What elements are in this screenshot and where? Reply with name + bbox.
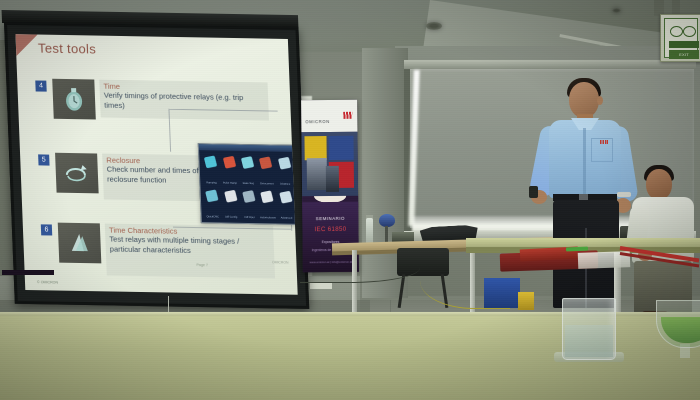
app-icon[interactable]: Advanced <box>277 189 295 221</box>
app-icon-glyph <box>261 190 274 203</box>
emergency-exit-sign: EXIT <box>660 14 700 62</box>
app-icon-label: Diff Config <box>223 215 240 220</box>
green-marker <box>566 247 588 252</box>
power-strip[interactable] <box>310 282 332 289</box>
lamp-stem <box>385 226 388 242</box>
shirt-placket <box>583 128 586 196</box>
slide-item: 4 Time Verify timings of protective rela… <box>35 78 275 82</box>
app-icon-glyph <box>278 157 291 170</box>
sign-mount <box>672 0 680 14</box>
presenter-standing <box>527 78 647 328</box>
app-icon[interactable]: Pulse Ramp <box>221 154 239 186</box>
app-icon-glyph <box>205 189 218 202</box>
omicron-logo-icon <box>600 140 608 144</box>
slide-logo: OMICRON <box>272 260 289 264</box>
characteristics-icon <box>58 223 102 264</box>
app-screenshot: RampingPulse RampState SeqOvercurrentDis… <box>198 143 298 225</box>
app-icon[interactable]: Autoreclosure <box>259 188 277 220</box>
seminar-room-photo: EXIT Test tools 4 <box>0 0 700 400</box>
app-icon-label: Ramping <box>203 180 220 185</box>
ceiling-downlight-icon <box>426 22 442 30</box>
app-icon[interactable]: QuickCMC <box>203 187 221 219</box>
exit-sign-label: EXIT <box>669 50 699 59</box>
slide-item-number: 5 <box>38 154 49 165</box>
screen-frame: Test tools 4 Time Verify timings of p <box>4 22 309 309</box>
app-icon-label: QuickCMC <box>205 214 222 219</box>
wristwatch <box>617 192 631 197</box>
slide-corner-accent <box>15 34 38 56</box>
attendee-head <box>646 169 672 200</box>
slide-item-number: 6 <box>41 224 52 235</box>
banner-header: OMICRON <box>301 100 357 133</box>
omicron-logo-icon <box>343 112 352 119</box>
app-icon-glyph <box>242 190 255 203</box>
app-icon-label: Diff Oper <box>241 215 258 220</box>
slide-page-number: Page 7 <box>196 263 208 267</box>
app-icon[interactable]: Distance <box>276 155 294 187</box>
banner-line-2: IEC 61850 <box>302 226 358 234</box>
exit-arrows-icon <box>670 26 698 37</box>
presenter-remote[interactable] <box>529 186 538 198</box>
blind-headrail <box>404 60 696 69</box>
slide-footer: © OMICRON <box>37 280 58 284</box>
app-icon-glyph <box>259 156 272 169</box>
app-icon-glyph <box>279 191 292 204</box>
app-icon[interactable]: Diff Config <box>222 188 240 220</box>
water-bottle <box>366 218 373 244</box>
presentation-slide: Test tools 4 Time Verify timings of p <box>15 34 297 295</box>
app-icon[interactable]: Ramping <box>202 153 220 185</box>
banner-brand: OMICRON <box>305 119 330 124</box>
app-titlebar <box>199 144 295 152</box>
slide-item-body: Test relays with multiple timing stages … <box>109 235 270 257</box>
water <box>565 325 613 357</box>
presenter-ear <box>597 96 603 105</box>
app-icon[interactable]: Diff Oper <box>240 188 258 220</box>
bowl-contents <box>661 317 700 343</box>
reclosure-cycle-icon <box>55 153 99 194</box>
app-icon-glyph <box>241 156 254 169</box>
app-icon-glyph <box>224 190 237 203</box>
banner-base <box>2 270 54 275</box>
water-glass <box>562 298 616 360</box>
app-icon-label: Distance <box>277 182 294 187</box>
app-icon[interactable]: State Seq <box>239 154 257 186</box>
slide-title: Test tools <box>38 41 97 57</box>
app-icon-label: State Seq <box>240 181 257 186</box>
app-icon-glyph <box>204 155 217 168</box>
app-icon-label: Pulse Ramp <box>222 181 239 186</box>
app-icon-label: Autoreclosure <box>260 215 277 220</box>
slide-item-text: Time Characteristics Test relays with mu… <box>105 223 275 278</box>
app-icon-glyph <box>222 156 235 169</box>
slide-item-number: 4 <box>35 80 46 91</box>
app-icon-grid: RampingPulse RampState SeqOvercurrentDis… <box>202 153 295 221</box>
presenter-head <box>569 82 599 118</box>
app-icon[interactable]: Overcurrent <box>257 154 275 186</box>
banner-line-1: SEMINARIO <box>302 216 358 222</box>
ceiling-downlight-icon <box>612 8 621 13</box>
projection-screen: Test tools 4 Time Verify timings of p <box>4 22 305 311</box>
exit-sign-inner: EXIT <box>664 18 698 58</box>
exit-sign-band <box>669 41 699 48</box>
app-icon-label: Overcurrent <box>258 181 275 186</box>
banner-photo <box>301 132 358 203</box>
app-icon-label: Advanced <box>278 216 295 221</box>
stopwatch-icon <box>52 79 96 120</box>
